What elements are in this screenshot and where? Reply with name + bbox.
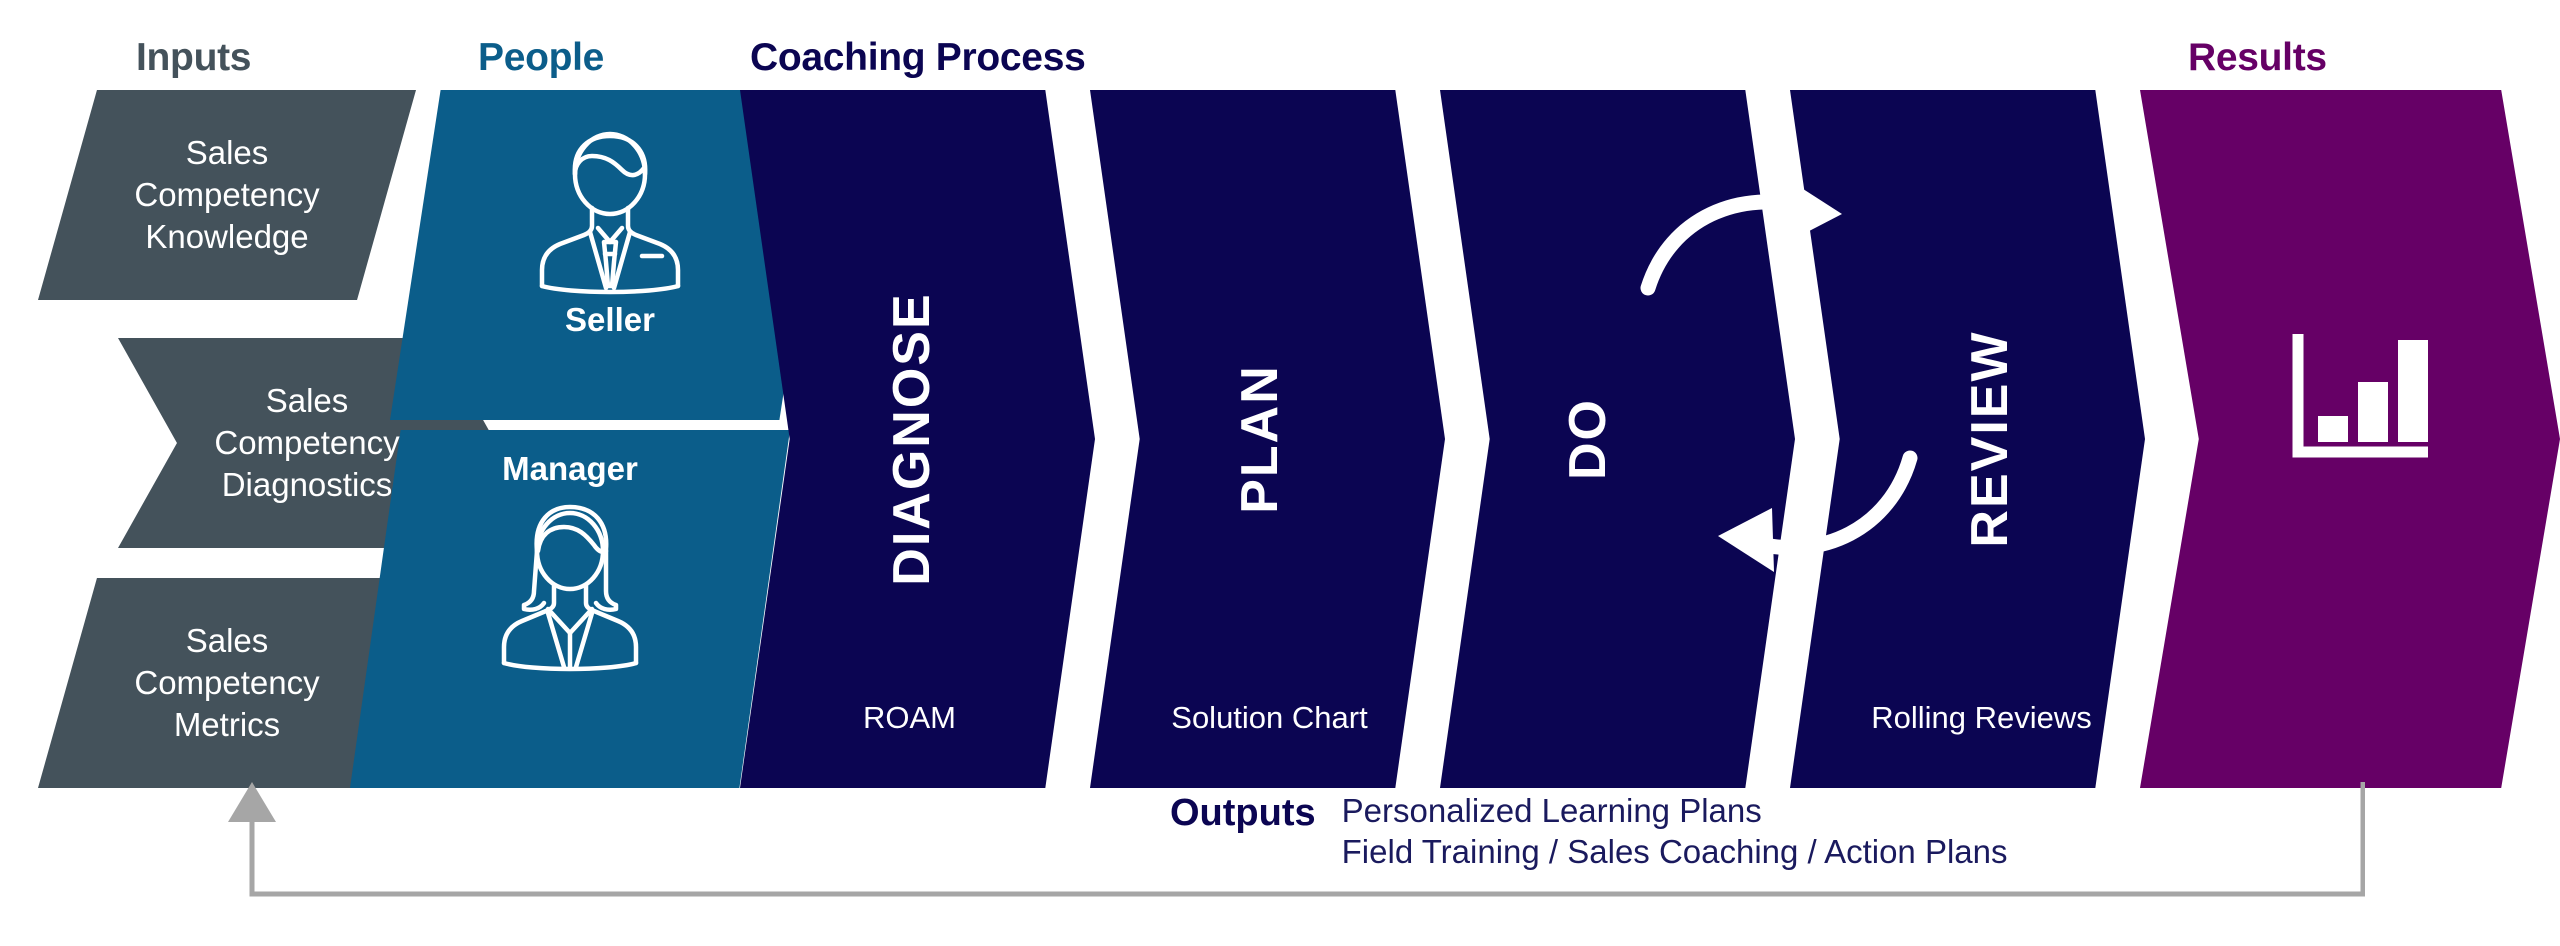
input-card-line-2: Competency [134, 174, 319, 216]
process-step-sublabel: Solution Chart [1092, 700, 1447, 736]
input-card-line-3: Metrics [134, 704, 319, 746]
input-card-line-3: Diagnostics [214, 464, 399, 506]
businessman-icon [510, 128, 710, 303]
input-card-line-1: Sales [214, 380, 399, 422]
process-step-diagnose: DIAGNOSE ROAM [740, 90, 1095, 788]
process-step-name: DO [1558, 398, 1618, 480]
process-step-name: DIAGNOSE [882, 292, 942, 585]
process-step-sublabel: Rolling Reviews [1804, 700, 2159, 736]
outputs-block: Outputs Personalized Learning Plans Fiel… [1170, 790, 2008, 873]
column-header-coaching-process: Coaching Process [750, 38, 1085, 77]
input-card-sales-competency-knowledge: Sales Competency Knowledge [38, 90, 416, 300]
people-card-label: Manager [502, 452, 638, 485]
people-card-label: Seller [565, 303, 655, 336]
input-card-line-1: Sales [134, 620, 319, 662]
process-step-name: PLAN [1230, 364, 1290, 514]
column-header-results: Results [2188, 38, 2327, 77]
coaching-process-diagram: Inputs People Coaching Process Results S… [0, 0, 2560, 946]
input-card-line-2: Competency [134, 662, 319, 704]
column-header-inputs: Inputs [136, 38, 251, 77]
bar-chart-icon [2290, 330, 2430, 465]
input-card-line-3: Knowledge [134, 216, 319, 258]
businesswoman-icon [470, 499, 670, 684]
people-card-manager: Manager [350, 430, 790, 788]
outputs-title: Outputs [1170, 790, 1316, 836]
input-card-line-2: Competency [214, 422, 399, 464]
process-step-plan: PLAN Solution Chart [1090, 90, 1445, 788]
process-step-sublabel: ROAM [732, 700, 1087, 736]
process-step-do: DO [1440, 90, 1795, 788]
input-card-line-1: Sales [134, 132, 319, 174]
process-step-review: REVIEW Rolling Reviews [1790, 90, 2145, 788]
outputs-lines: Personalized Learning Plans Field Traini… [1342, 790, 2008, 873]
outputs-line-2: Field Training / Sales Coaching / Action… [1342, 831, 2008, 872]
column-header-people: People [478, 38, 604, 77]
process-step-name: REVIEW [1960, 330, 2020, 547]
outputs-line-1: Personalized Learning Plans [1342, 790, 2008, 831]
